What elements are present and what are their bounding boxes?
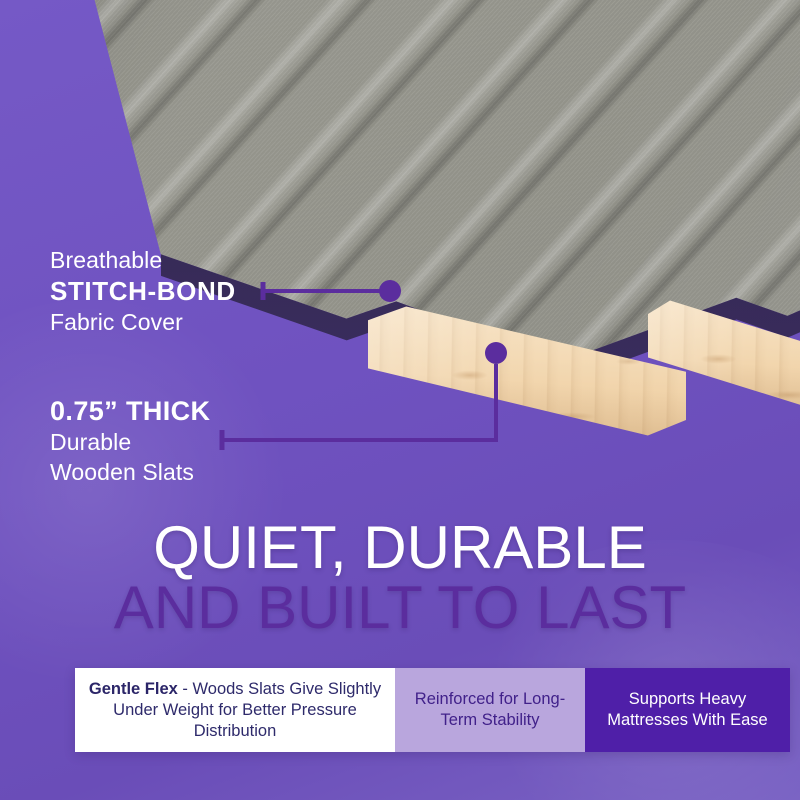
product-infographic: Breathable STITCH-BOND Fabric Cover 0.75…: [0, 0, 800, 800]
callout-line-durable: Durable: [50, 427, 210, 457]
dot-marker: [485, 342, 507, 364]
leader-line-stitch-bond: [258, 270, 408, 320]
callout-line-breathable: Breathable: [50, 245, 236, 275]
headline-line-2: AND BUILT TO LAST: [0, 578, 800, 638]
callout-label-thickness: 0.75” THICK Durable Wooden Slats: [50, 395, 210, 487]
feature-panel-gentle-flex[interactable]: Gentle Flex - Woods Slats Give Slightly …: [75, 668, 395, 752]
feature-panel-supports[interactable]: Supports Heavy Mattresses With Ease: [585, 668, 790, 752]
feature-panel-reinforced[interactable]: Reinforced for Long-Term Stability: [395, 668, 585, 752]
feature-text-supports: Supports Heavy Mattresses With Ease: [595, 689, 780, 731]
callout-line-wooden-slats: Wooden Slats: [50, 457, 210, 487]
callout-line-stitch-bond: STITCH-BOND: [50, 275, 236, 307]
feature-emphasis-gentle-flex: Gentle Flex: [89, 680, 178, 698]
feature-bar: Gentle Flex - Woods Slats Give Slightly …: [75, 668, 790, 752]
headline-line-1: QUIET, DURABLE: [0, 518, 800, 578]
feature-text-gentle-flex: Gentle Flex - Woods Slats Give Slightly …: [85, 679, 385, 742]
leader-line-thickness: [215, 340, 525, 460]
dot-marker: [379, 280, 401, 302]
feature-text-reinforced: Reinforced for Long-Term Stability: [405, 689, 575, 731]
leader-elbow: [222, 364, 496, 440]
callout-line-thickness: 0.75” THICK: [50, 395, 210, 427]
callout-label-stitch-bond: Breathable STITCH-BOND Fabric Cover: [50, 245, 236, 337]
callout-line-fabric-cover: Fabric Cover: [50, 307, 236, 337]
